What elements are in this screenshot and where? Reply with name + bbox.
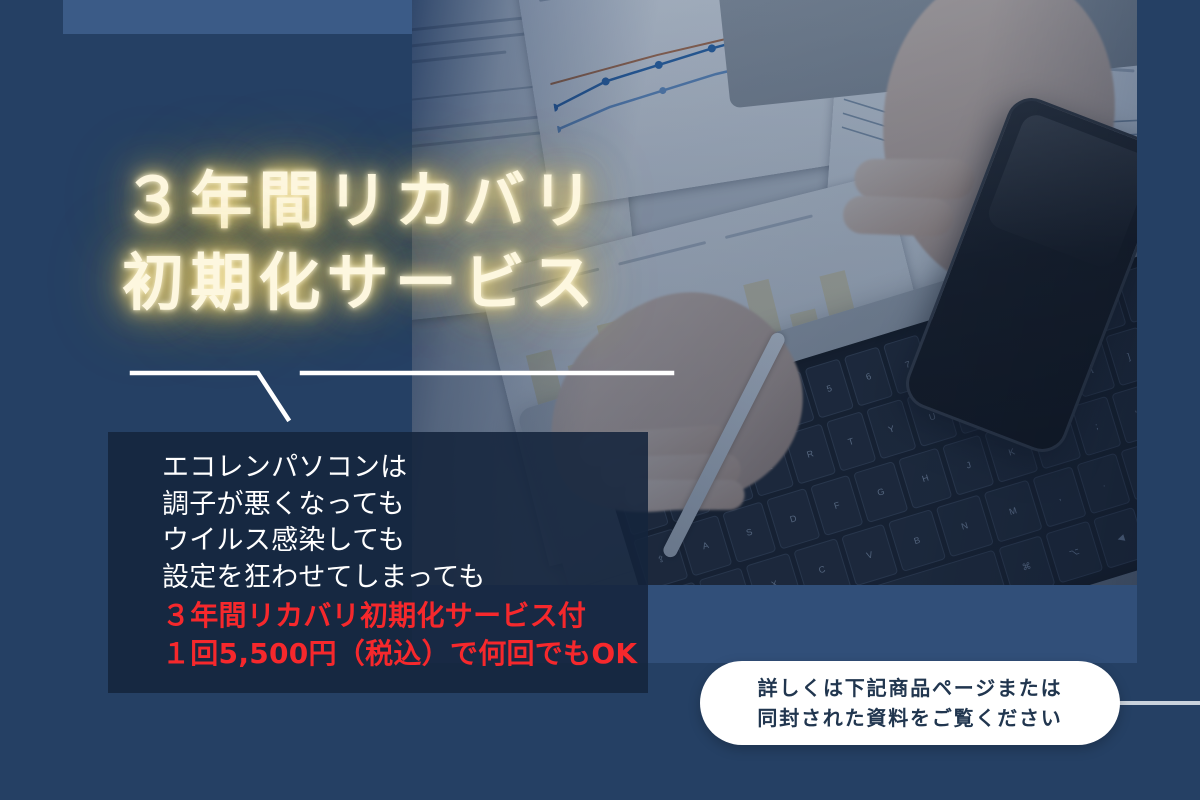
body-line-5-accent: ３年間リカバリ初期化サービス付 [162, 597, 626, 635]
callout-pill: 詳しくは下記商品ページまたは 同封された資料をご覧ください [700, 661, 1120, 745]
callout-line-2: 同封された資料をご覧ください [757, 703, 1062, 733]
headline-line-1: ３年間リカバリ [108, 160, 599, 242]
promo-banner: esc1234567890-=⌫ ⇥QWERTYUIOP[]\ ⇪ASDFGHJ… [0, 0, 1200, 800]
headline-line-2: 初期化サービス [108, 242, 599, 324]
page-title: ３年間リカバリ 初期化サービス [108, 160, 599, 324]
description-box: エコレンパソコンは 調子が悪くなっても ウイルス感染しても 設定を狂わせてしまっ… [108, 432, 648, 693]
body-line-1: エコレンパソコンは [162, 450, 626, 487]
callout-line-1: 詳しくは下記商品ページまたは [758, 673, 1063, 703]
body-line-6-accent: １回5,500円（税込）で何回でもOK [162, 635, 626, 673]
body-line-3: ウイルス感染しても [162, 523, 626, 560]
body-line-2: 調子が悪くなっても [162, 487, 626, 524]
body-line-4: 設定を狂わせてしまっても [162, 560, 626, 597]
